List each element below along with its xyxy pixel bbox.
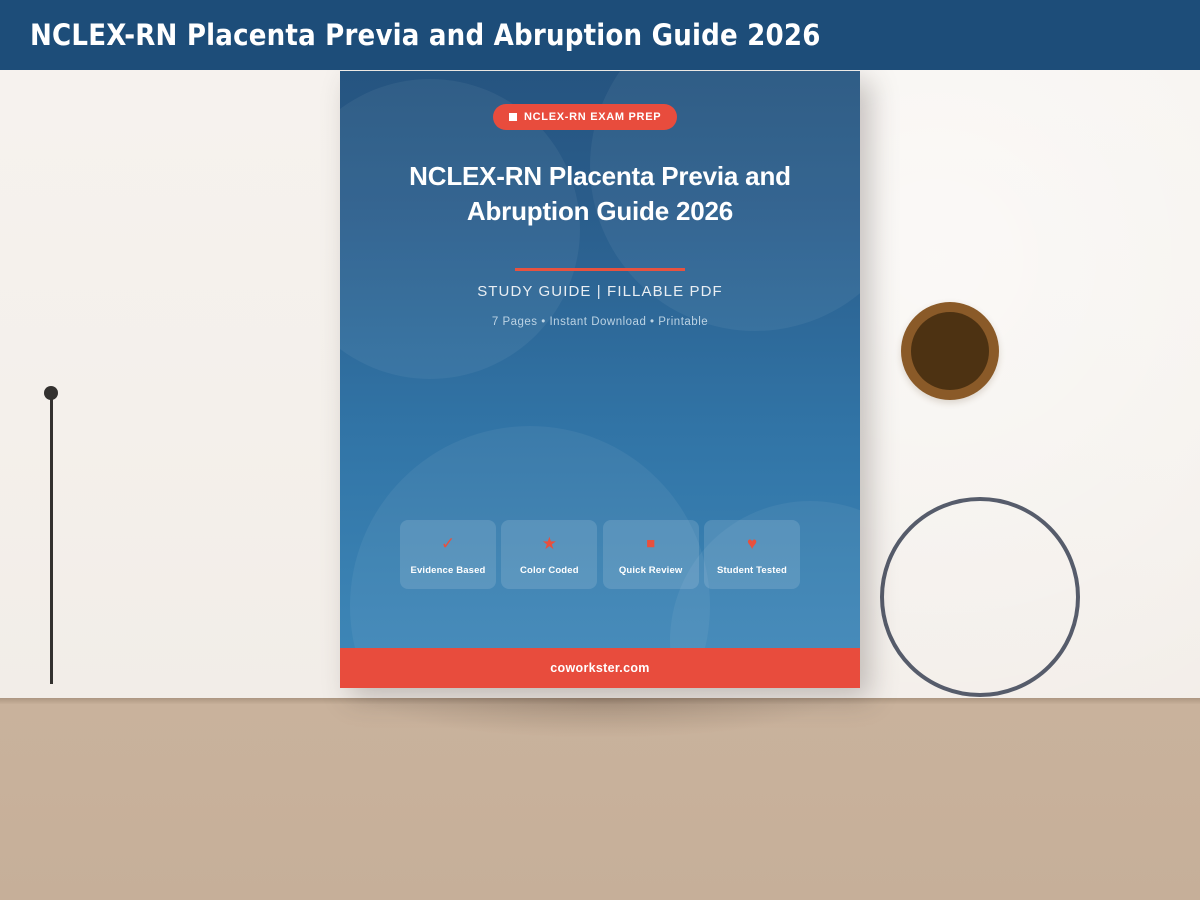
coffee-cup-icon bbox=[901, 302, 999, 400]
page-header-bar: NCLEX-RN Placenta Previa and Abruption G… bbox=[0, 0, 1200, 70]
feature-label: Evidence Based bbox=[411, 565, 486, 576]
card-meta-line: 7 Pages • Instant Download • Printable bbox=[380, 316, 820, 328]
feature-label: Color Coded bbox=[520, 565, 579, 576]
exam-prep-badge: NCLEX-RN EXAM PREP bbox=[493, 104, 677, 130]
coffee-cup-liquid bbox=[911, 312, 989, 390]
push-pin-stem bbox=[50, 396, 53, 684]
desk-edge bbox=[0, 698, 1200, 704]
card-content: NCLEX-RN EXAM PREP NCLEX-RN Placenta Pre… bbox=[340, 71, 860, 688]
desk-surface bbox=[0, 698, 1200, 900]
card-subtitle: STUDY GUIDE | FILLABLE PDF bbox=[380, 283, 820, 300]
feature-label: Student Tested bbox=[717, 565, 787, 576]
feature-item-quick-review: ■ Quick Review bbox=[603, 520, 699, 589]
heart-icon: ♥ bbox=[747, 533, 757, 553]
title-divider bbox=[515, 268, 685, 271]
card-footer: coworkster.com bbox=[340, 648, 860, 688]
website-url: coworkster.com bbox=[550, 661, 649, 675]
exam-prep-badge-label: NCLEX-RN EXAM PREP bbox=[524, 104, 661, 130]
filled-square-icon bbox=[509, 113, 517, 121]
product-cover-card: NCLEX-RN EXAM PREP NCLEX-RN Placenta Pre… bbox=[340, 71, 860, 688]
scene: NCLEX-RN EXAM PREP NCLEX-RN Placenta Pre… bbox=[0, 0, 1200, 900]
feature-item-evidence-based: ✓ Evidence Based bbox=[400, 520, 496, 589]
feature-list: ✓ Evidence Based ★ Color Coded ■ Quick R… bbox=[400, 520, 800, 589]
card-title: NCLEX-RN Placenta Previa and Abruption G… bbox=[380, 159, 820, 229]
push-pin bbox=[44, 386, 60, 686]
square-icon: ■ bbox=[646, 533, 655, 553]
page-title: NCLEX-RN Placenta Previa and Abruption G… bbox=[30, 0, 821, 70]
star-icon: ★ bbox=[542, 533, 557, 553]
feature-label: Quick Review bbox=[619, 565, 683, 576]
outlined-circle-decoration bbox=[880, 497, 1080, 697]
feature-item-color-coded: ★ Color Coded bbox=[501, 520, 597, 589]
check-icon: ✓ bbox=[441, 533, 455, 553]
feature-item-student-tested: ♥ Student Tested bbox=[704, 520, 800, 589]
